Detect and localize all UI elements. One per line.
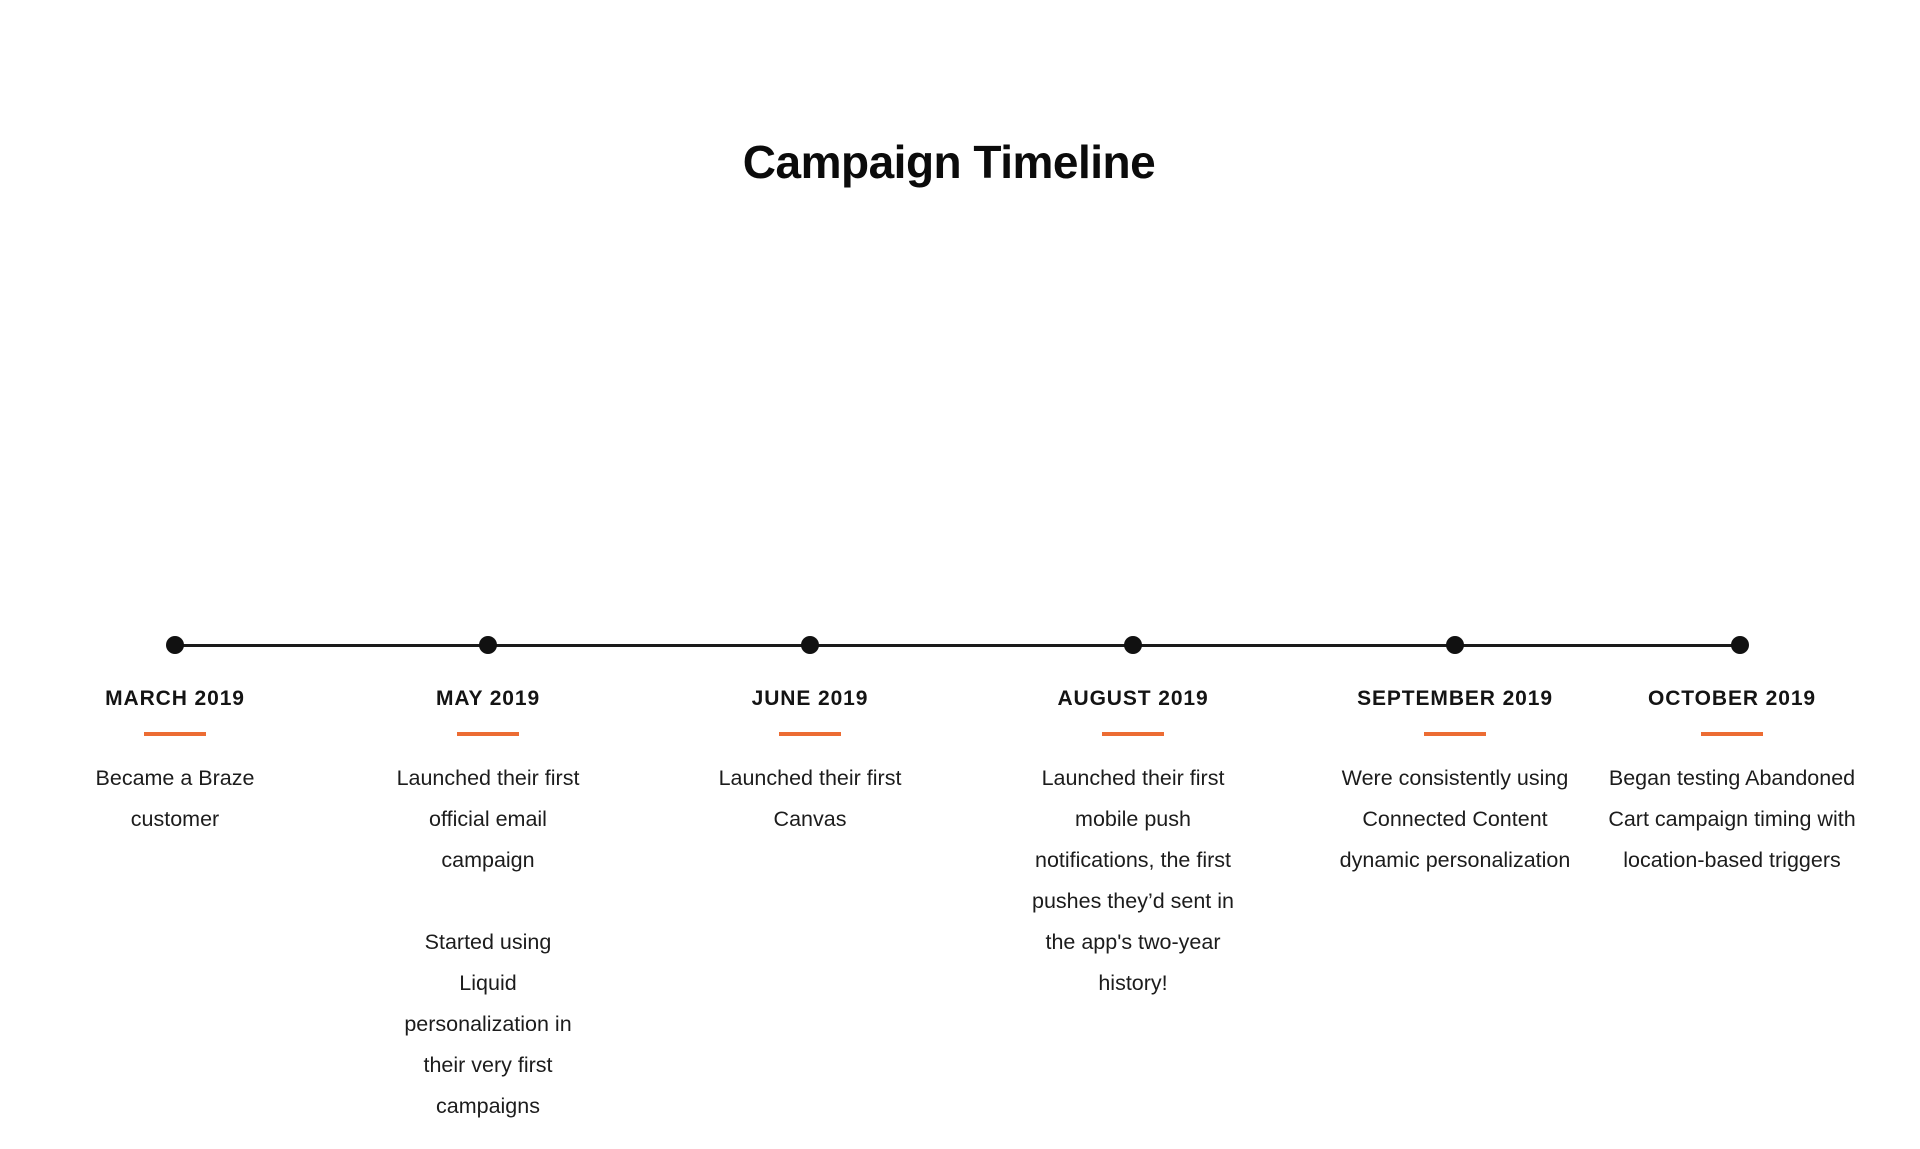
milestone-date-2: MAY 2019: [358, 686, 618, 711]
milestone-paragraph: Launched their first Canvas: [710, 758, 910, 840]
accent-bar-3: [779, 732, 841, 736]
timeline-milestone-2: MAY 2019 Launched their first official e…: [358, 686, 618, 1149]
timeline-dot-2[interactable]: [479, 636, 497, 654]
milestone-date-4: AUGUST 2019: [1003, 686, 1263, 711]
milestone-date-3: JUNE 2019: [680, 686, 940, 711]
milestone-paragraph: Began testing Abandoned Cart campaign ti…: [1606, 758, 1858, 881]
page-title: Campaign Timeline: [0, 137, 1920, 188]
milestone-paragraph: Launched their first mobile push notific…: [1019, 758, 1247, 1004]
page-title-text: Campaign Timeline: [743, 137, 1155, 188]
campaign-timeline: MARCH 2019 Became a Braze customer MAY 2…: [0, 300, 1920, 920]
timeline-dot-4[interactable]: [1124, 636, 1142, 654]
milestone-body-2: Launched their first official email camp…: [358, 758, 618, 1127]
timeline-milestone-4: AUGUST 2019 Launched their first mobile …: [1003, 686, 1263, 1026]
milestone-body-5: Were consistently using Connected Conten…: [1325, 758, 1585, 881]
milestone-body-1: Became a Braze customer: [45, 758, 305, 840]
milestone-date-1: MARCH 2019: [45, 686, 305, 711]
timeline-dot-3[interactable]: [801, 636, 819, 654]
timeline-milestone-6: OCTOBER 2019 Began testing Abandoned Car…: [1602, 686, 1862, 903]
timeline-nodes: MARCH 2019 Became a Braze customer MAY 2…: [0, 300, 1920, 920]
milestone-body-4: Launched their first mobile push notific…: [1003, 758, 1263, 1004]
timeline-page: Campaign Timeline MARCH 2019 Became a Br…: [0, 0, 1920, 968]
timeline-dot-6[interactable]: [1731, 636, 1749, 654]
timeline-milestone-5: SEPTEMBER 2019 Were consistently using C…: [1325, 686, 1585, 903]
milestone-date-6: OCTOBER 2019: [1602, 686, 1862, 711]
accent-bar-6: [1701, 732, 1763, 736]
milestone-paragraph: Became a Braze customer: [72, 758, 278, 840]
timeline-dot-1[interactable]: [166, 636, 184, 654]
milestone-paragraph: Started using Liquid personalization in …: [395, 922, 581, 1127]
timeline-dot-5[interactable]: [1446, 636, 1464, 654]
milestone-body-3: Launched their first Canvas: [680, 758, 940, 840]
milestone-paragraph: Launched their first official email camp…: [381, 758, 595, 881]
accent-bar-4: [1102, 732, 1164, 736]
milestone-paragraph: Were consistently using Connected Conten…: [1339, 758, 1571, 881]
milestone-date-5: SEPTEMBER 2019: [1325, 686, 1585, 711]
accent-bar-2: [457, 732, 519, 736]
accent-bar-5: [1424, 732, 1486, 736]
milestone-body-6: Began testing Abandoned Cart campaign ti…: [1602, 758, 1862, 881]
timeline-milestone-1: MARCH 2019 Became a Braze customer: [45, 686, 305, 862]
accent-bar-1: [144, 732, 206, 736]
timeline-milestone-3: JUNE 2019 Launched their first Canvas: [680, 686, 940, 862]
